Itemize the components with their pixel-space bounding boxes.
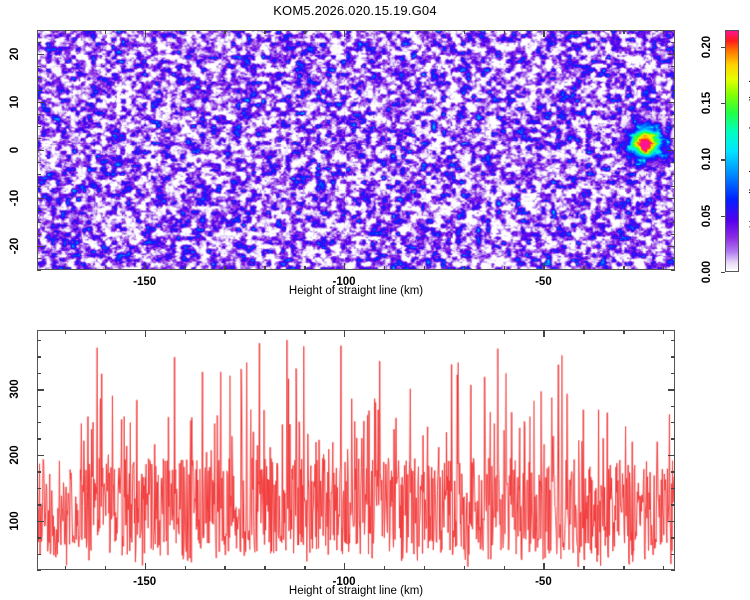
axis-tick [37, 186, 41, 187]
x-tick-label: -150 [133, 576, 156, 588]
axis-tick [37, 246, 44, 247]
axis-tick [344, 263, 345, 270]
axis-tick [37, 422, 41, 423]
axis-tick [37, 554, 41, 555]
y-tick-label: 10 [9, 96, 21, 109]
axis-tick [671, 114, 675, 115]
axis-tick [668, 521, 675, 522]
axis-tick [304, 330, 305, 334]
axis-tick [671, 373, 675, 374]
colorbar-tick [721, 272, 725, 273]
axis-tick [668, 198, 675, 199]
axis-tick [671, 186, 675, 187]
axis-tick [37, 78, 41, 79]
axis-tick [583, 566, 584, 570]
x-tick-label: -150 [133, 276, 156, 288]
axis-tick [671, 174, 675, 175]
axis-tick [623, 330, 624, 334]
axis-tick [671, 570, 675, 571]
axis-tick [671, 537, 675, 538]
axis-tick [671, 438, 675, 439]
y-tick-label: 20 [9, 48, 21, 61]
axis-tick [37, 234, 41, 235]
colorbar-tick-label: 0.15 [701, 92, 713, 114]
axis-tick [663, 30, 664, 34]
axis-tick [185, 566, 186, 570]
axis-tick [37, 42, 41, 43]
snr-canvas [38, 331, 674, 569]
axis-tick [384, 266, 385, 270]
axis-tick [304, 30, 305, 34]
axis-tick [543, 330, 544, 337]
axis-tick [671, 406, 675, 407]
axis-tick [37, 162, 41, 163]
axis-tick [671, 471, 675, 472]
axis-tick [671, 270, 675, 271]
axis-tick [37, 114, 41, 115]
colorbar-tick-label: 0.10 [701, 148, 713, 170]
axis-tick [344, 330, 345, 337]
axis-tick [671, 78, 675, 79]
axis-tick [344, 563, 345, 570]
axis-tick [37, 504, 41, 505]
axis-tick [224, 330, 225, 334]
axis-tick [37, 66, 41, 67]
axis-tick [384, 566, 385, 570]
axis-tick [224, 30, 225, 34]
axis-tick [145, 563, 146, 570]
axis-tick [145, 30, 146, 37]
axis-tick [671, 90, 675, 91]
axis-tick [37, 126, 41, 127]
axis-tick [464, 30, 465, 34]
axis-tick [185, 30, 186, 34]
colorbar-tick [721, 159, 725, 160]
axis-tick [671, 66, 675, 67]
axis-tick [37, 90, 41, 91]
axis-tick [424, 266, 425, 270]
axis-tick [384, 30, 385, 34]
colorbar-tick-label: 0.00 [701, 261, 713, 283]
axis-tick [671, 554, 675, 555]
axis-tick [504, 330, 505, 334]
axis-tick [37, 373, 41, 374]
axis-tick [671, 258, 675, 259]
axis-tick [37, 198, 44, 199]
axis-tick [671, 162, 675, 163]
axis-tick [668, 455, 675, 456]
x-tick-label: -50 [535, 576, 552, 588]
axis-tick [145, 263, 146, 270]
axis-tick [37, 537, 41, 538]
axis-tick [37, 270, 41, 271]
axis-tick [623, 266, 624, 270]
axis-tick [668, 246, 675, 247]
y-tick-label: 300 [9, 380, 21, 399]
axis-tick [424, 30, 425, 34]
axis-tick [264, 30, 265, 34]
axis-tick [37, 455, 44, 456]
axis-tick [37, 138, 41, 139]
colorbar-tick-label: 0.20 [701, 36, 713, 58]
y-tick-label: 100 [9, 511, 21, 530]
axis-tick [583, 330, 584, 334]
spectrogram-x-axis-title: Height of straight line (km) [289, 285, 423, 297]
axis-tick [623, 30, 624, 34]
y-tick-label: 200 [9, 445, 21, 464]
axis-tick [37, 471, 41, 472]
axis-tick [224, 266, 225, 270]
axis-tick [37, 222, 41, 223]
axis-tick [583, 266, 584, 270]
axis-tick [37, 174, 41, 175]
axis-tick [464, 266, 465, 270]
axis-tick [671, 42, 675, 43]
axis-tick [671, 340, 675, 341]
axis-tick [671, 504, 675, 505]
x-tick-label: -50 [535, 276, 552, 288]
y-tick-label: -10 [9, 190, 21, 207]
axis-tick [543, 30, 544, 37]
axis-tick [65, 30, 66, 34]
axis-tick [671, 210, 675, 211]
figure-title: KOM5.2026.020.15.19.G04 [0, 3, 710, 18]
snr-plot-area [37, 330, 675, 570]
y-tick-label: 0 [9, 147, 21, 153]
axis-tick [105, 266, 106, 270]
axis-tick [671, 422, 675, 423]
figure-root: KOM5.2026.020.15.19.G04 -150-100-5020100… [0, 0, 750, 600]
axis-tick [37, 356, 41, 357]
axis-tick [37, 438, 41, 439]
axis-tick [105, 330, 106, 334]
axis-tick [671, 488, 675, 489]
axis-tick [671, 222, 675, 223]
colorbar-tick [721, 216, 725, 217]
spectrogram-plot-area [37, 30, 675, 270]
spectrogram-canvas [38, 31, 674, 269]
axis-tick [185, 266, 186, 270]
colorbar [725, 30, 739, 272]
axis-tick [264, 566, 265, 570]
axis-tick [504, 30, 505, 34]
axis-tick [185, 330, 186, 334]
axis-tick [344, 30, 345, 37]
axis-tick [37, 30, 41, 31]
axis-tick [37, 258, 41, 259]
axis-tick [663, 266, 664, 270]
axis-tick [304, 566, 305, 570]
axis-tick [37, 570, 41, 571]
axis-tick [663, 330, 664, 334]
axis-tick [65, 266, 66, 270]
axis-tick [65, 330, 66, 334]
axis-tick [668, 389, 675, 390]
axis-tick [583, 30, 584, 34]
axis-tick [264, 330, 265, 334]
axis-tick [623, 566, 624, 570]
axis-tick [543, 563, 544, 570]
axis-tick [424, 566, 425, 570]
axis-tick [543, 263, 544, 270]
axis-tick [105, 566, 106, 570]
axis-tick [37, 210, 41, 211]
axis-tick [504, 566, 505, 570]
axis-tick [264, 266, 265, 270]
axis-tick [37, 54, 44, 55]
axis-tick [671, 126, 675, 127]
axis-tick [671, 138, 675, 139]
axis-tick [668, 102, 675, 103]
axis-tick [663, 566, 664, 570]
colorbar-tick [721, 47, 725, 48]
axis-tick [37, 102, 44, 103]
axis-tick [384, 330, 385, 334]
axis-tick [37, 340, 41, 341]
axis-tick [37, 406, 41, 407]
colorbar-gradient [726, 31, 738, 271]
snr-x-axis-title: Height of straight line (km) [289, 585, 423, 597]
axis-tick [145, 330, 146, 337]
axis-tick [65, 566, 66, 570]
axis-tick [304, 266, 305, 270]
axis-tick [37, 150, 44, 151]
axis-tick [464, 330, 465, 334]
axis-tick [37, 521, 44, 522]
axis-tick [37, 488, 41, 489]
colorbar-tick-label: 0.05 [701, 205, 713, 227]
axis-tick [105, 30, 106, 34]
axis-tick [37, 389, 44, 390]
y-tick-label: -20 [9, 238, 21, 255]
colorbar-tick [721, 103, 725, 104]
axis-tick [671, 234, 675, 235]
axis-tick [671, 30, 675, 31]
axis-tick [504, 266, 505, 270]
axis-tick [668, 54, 675, 55]
axis-tick [464, 566, 465, 570]
axis-tick [224, 566, 225, 570]
axis-tick [424, 330, 425, 334]
axis-tick [668, 150, 675, 151]
axis-tick [671, 356, 675, 357]
